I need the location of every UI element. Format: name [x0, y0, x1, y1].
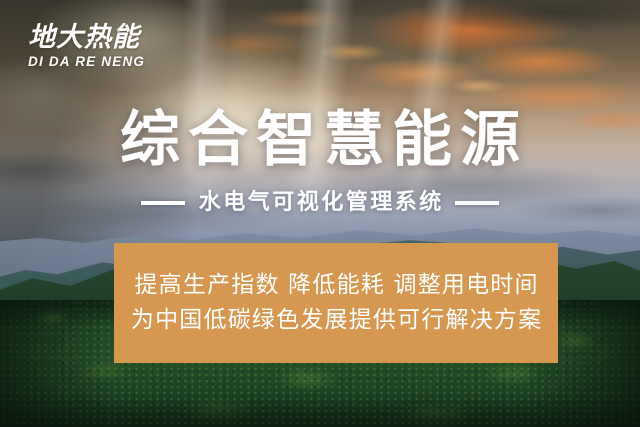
brand-logo-pinyin: DI DA RE NENG — [28, 55, 178, 69]
callout-line-2: 为中国低碳绿色发展提供可行解决方案 — [130, 308, 543, 334]
brand-logo-chinese-name: 地大热能 — [28, 24, 178, 51]
subtitle-right-rule-icon — [455, 201, 499, 205]
callout-line-1: 提高生产指数 降低能耗 调整用电时间 — [133, 273, 538, 299]
subtitle-label: 水电气可视化管理系统 — [196, 192, 444, 214]
subtitle-left-rule-icon — [141, 201, 185, 205]
page-title: 综合智慧能源 — [0, 108, 640, 173]
brand-logo[interactable]: 地大热能 DI DA RE NENG — [28, 24, 178, 69]
subtitle: 水电气可视化管理系统 — [0, 192, 640, 214]
callout-box: 提高生产指数 降低能耗 调整用电时间 为中国低碳绿色发展提供可行解决方案 — [114, 243, 558, 363]
poster-banner: 地大热能 DI DA RE NENG 综合智慧能源 水电气可视化管理系统 提高生… — [0, 0, 640, 427]
